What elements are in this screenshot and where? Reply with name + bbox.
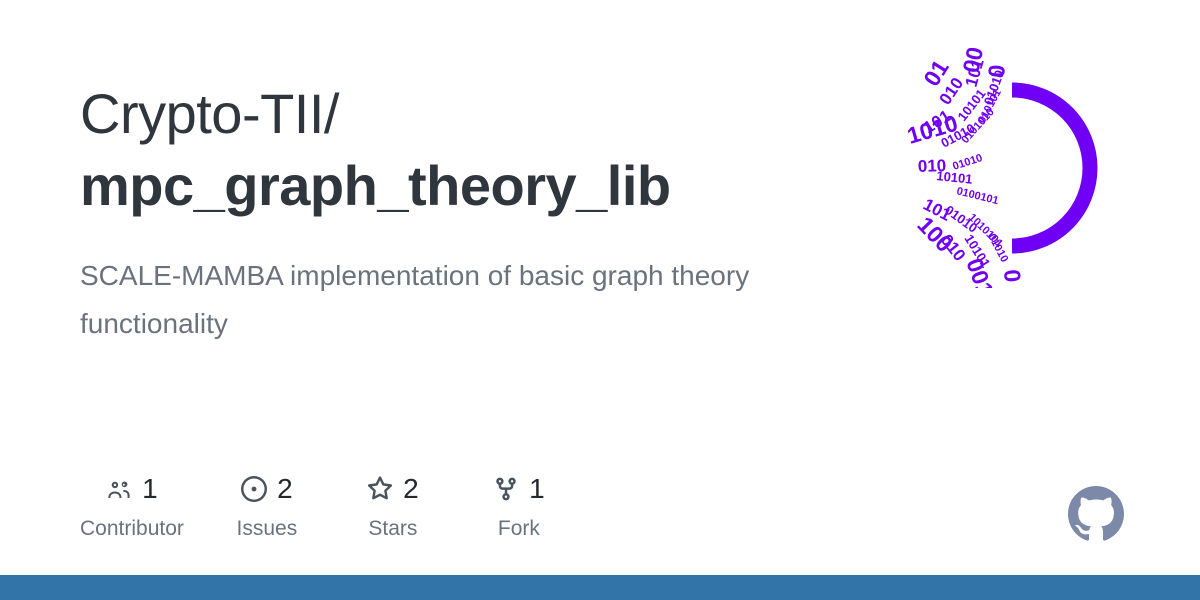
svg-text:010: 010 [917,156,946,176]
repo-forked-icon [493,476,519,502]
stat-stars-count: 2 [403,474,419,504]
stat-issues-top: 2 [241,472,293,506]
bottom-accent-bar [0,575,1200,600]
page-title: Crypto-TII/ mpc_graph_theory_lib [80,78,840,222]
stat-issues[interactable]: 2 Issues [224,472,310,542]
repository-header: Crypto-TII/ mpc_graph_theory_lib SCALE-M… [80,78,840,348]
stat-fork-count: 1 [529,474,545,504]
logo-arc-stroke [1012,90,1090,246]
stat-contributor-count: 1 [142,474,158,504]
stat-contributor[interactable]: 1 Contributor [80,472,184,542]
svg-text:001: 001 [961,255,999,288]
stat-fork-label: Fork [498,516,540,542]
repository-description: SCALE-MAMBA implementation of basic grap… [80,252,800,348]
stat-contributor-top: 1 [106,472,158,506]
issue-opened-icon [241,476,267,502]
people-icon [106,476,132,502]
stat-contributor-label: Contributor [80,516,184,542]
repository-owner: Crypto-TII/ [80,78,840,150]
binary-arc-logo: 010101 0101010 01010 0100101 1010101 010… [892,48,1132,288]
stat-fork[interactable]: 1 Fork [476,472,562,542]
github-octocat-icon [1068,486,1124,542]
svg-text:0: 0 [983,64,1010,79]
star-icon [367,476,393,502]
stat-fork-top: 1 [493,472,545,506]
repository-stats: 1 Contributor 2 Issues [80,472,602,542]
repository-name: mpc_graph_theory_lib [80,150,840,222]
repository-social-preview-card: Crypto-TII/ mpc_graph_theory_lib SCALE-M… [0,0,1200,600]
stat-issues-label: Issues [237,516,298,542]
stat-stars[interactable]: 2 Stars [350,472,436,542]
stat-stars-label: Stars [368,516,417,542]
stat-issues-count: 2 [277,474,293,504]
logo-binary-digits: 010101 0101010 01010 0100101 1010101 010… [904,48,1026,288]
svg-text:0: 0 [999,269,1026,284]
stat-stars-top: 2 [367,472,419,506]
svg-text:0100101: 0100101 [955,185,999,207]
